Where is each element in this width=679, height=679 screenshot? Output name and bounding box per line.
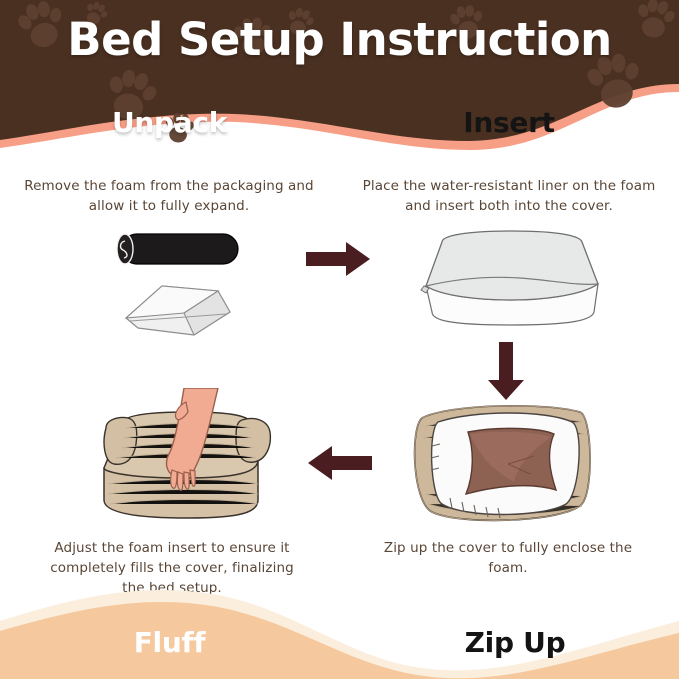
step-label-insert: Insert bbox=[339, 106, 679, 139]
infographic-root: Bed Setup Instruction Unpack Insert Remo… bbox=[0, 0, 679, 679]
step-label-zipup: Zip Up bbox=[345, 626, 679, 659]
arrow-right-icon bbox=[306, 240, 372, 278]
illustration-zipup bbox=[404, 398, 600, 528]
footer-banner bbox=[0, 569, 679, 679]
footer-wave-graphic bbox=[0, 569, 679, 679]
description-unpack: Remove the foam from the packaging and a… bbox=[18, 176, 320, 216]
arrow-down-icon bbox=[486, 342, 526, 402]
illustration-unpack bbox=[96, 228, 286, 343]
arrow-left-icon bbox=[306, 444, 372, 482]
illustration-insert bbox=[420, 228, 605, 338]
description-insert: Place the water-resistant liner on the f… bbox=[358, 176, 660, 216]
step-label-unpack: Unpack bbox=[0, 106, 339, 139]
page-title: Bed Setup Instruction bbox=[0, 13, 679, 66]
illustration-fluff bbox=[92, 388, 314, 523]
step-label-fluff: Fluff bbox=[0, 626, 339, 659]
